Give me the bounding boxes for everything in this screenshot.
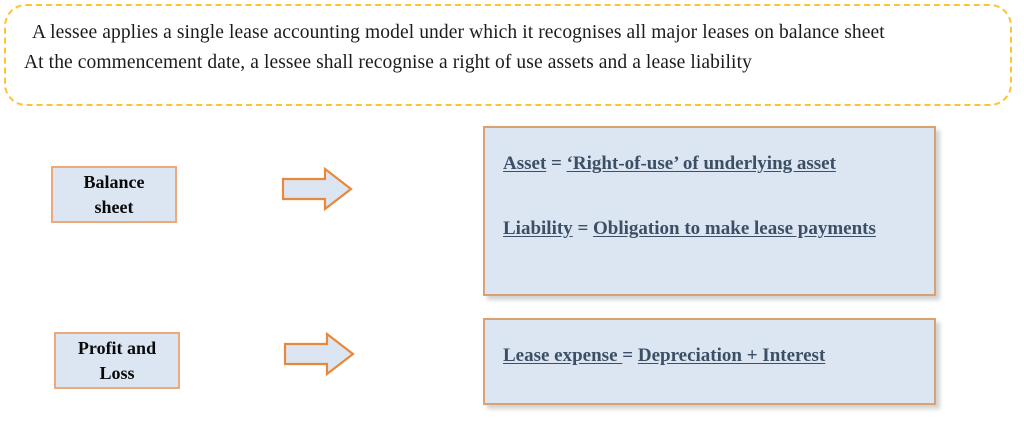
lease-summary-callout: A lessee applies a single lease accounti… xyxy=(4,4,1012,106)
right-arrow-icon-balance-sheet xyxy=(281,167,353,211)
equation-lease-expense-term: Lease expense xyxy=(503,345,622,366)
equation-liability-term: Liability xyxy=(503,218,573,239)
right-arrow-icon-profit-and-loss xyxy=(283,332,355,376)
panel-balance-sheet-equations: Asset = ‘Right-of-use’ of underlying ass… xyxy=(483,126,936,296)
panel-profit-and-loss-equations: Lease expense = Depreciation + Interest xyxy=(483,318,936,405)
label-profit-loss-line1: Profit and xyxy=(78,338,156,358)
equation-asset-operator: = xyxy=(546,153,566,174)
label-box-balance-sheet: Balance sheet xyxy=(51,166,177,223)
callout-line-2: At the commencement date, a lessee shall… xyxy=(24,48,992,78)
label-balance-sheet-line1: Balance xyxy=(84,172,145,192)
label-profit-loss-line2: Loss xyxy=(99,363,134,383)
equation-asset-term: Asset xyxy=(503,153,546,174)
callout-line-1: A lessee applies a single lease accounti… xyxy=(24,18,992,48)
equation-lease-expense-operator: = xyxy=(622,345,638,366)
equation-spacer xyxy=(503,177,914,215)
equation-liability-operator: = xyxy=(573,218,593,239)
equation-lease-expense: Lease expense = Depreciation + Interest xyxy=(503,342,914,369)
equation-liability-definition: Obligation to make lease payments xyxy=(593,218,876,239)
equation-asset-definition: ‘Right-of-use’ of underlying asset xyxy=(567,153,836,174)
equation-lease-expense-definition: Depreciation + Interest xyxy=(638,345,825,366)
label-balance-sheet-line2: sheet xyxy=(95,197,134,217)
label-box-profit-and-loss: Profit and Loss xyxy=(54,332,180,389)
equation-liability: Liability = Obligation to make lease pay… xyxy=(503,215,914,242)
equation-asset: Asset = ‘Right-of-use’ of underlying ass… xyxy=(503,150,914,177)
